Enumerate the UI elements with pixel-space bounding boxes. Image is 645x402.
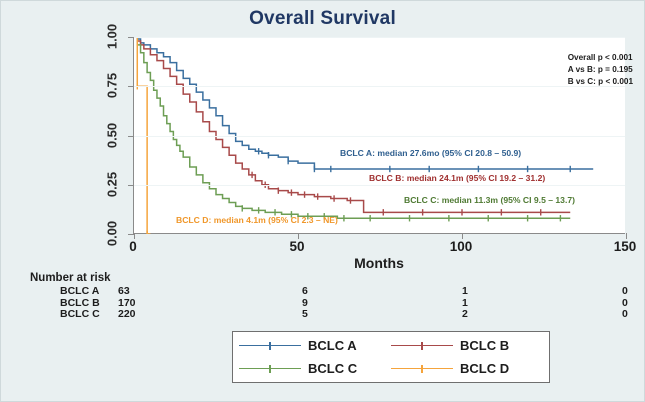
y-axis-tick-label: 1.00 (92, 29, 132, 45)
legend-item-bclc-a[interactable]: BCLC A (239, 338, 391, 353)
x-axis-tick-label: 150 (614, 239, 637, 254)
risk-row-value: 5 (302, 309, 308, 321)
legend-swatch-icon (391, 340, 453, 352)
x-axis-tick-label: 0 (129, 239, 137, 254)
y-axis-tick (128, 185, 134, 186)
annotation-bclc-a: BCLC A: median 27.6mo (95% CI 20.8 – 50.… (340, 148, 521, 158)
p-a-vs-b: A vs B: p = 0.195 (568, 64, 633, 76)
page-title: Overall Survival (0, 8, 645, 30)
risk-row-value: 63 (118, 286, 130, 298)
legend-swatch-icon (391, 363, 453, 375)
annotation-bclc-d: BCLC D: median 4.1m (95% CI 2.3 – NE) (176, 215, 338, 225)
legend-item-bclc-c[interactable]: BCLC C (239, 361, 391, 376)
p-b-vs-c: B vs C: p < 0.001 (568, 76, 633, 88)
risk-table-heading: Number at risk (30, 272, 630, 284)
y-axis-tick (128, 37, 134, 38)
risk-row-value: 2 (462, 309, 468, 321)
legend-label: BCLC C (308, 361, 357, 376)
legend-item-bclc-b[interactable]: BCLC B (391, 338, 543, 353)
risk-row-label: BCLC C (60, 309, 100, 321)
risk-row-value: 0 (622, 309, 628, 321)
p-overall: Overall p < 0.001 (568, 52, 633, 64)
y-axis-tick-label: 0.00 (92, 226, 132, 242)
legend-swatch-icon (239, 363, 301, 375)
gridline (134, 86, 625, 87)
km-curve-bclc-b (134, 37, 570, 212)
x-axis-tick-label: 50 (289, 239, 304, 254)
annotation-bclc-c: BCLC C: median 11.3m (95% CI 9.5 – 13.7) (404, 195, 575, 205)
p-value-box: Overall p < 0.001 A vs B: p = 0.195 B vs… (568, 52, 633, 88)
legend-item-bclc-d[interactable]: BCLC D (391, 361, 543, 376)
legend-label: BCLC A (308, 338, 357, 353)
annotation-bclc-b: BCLC B: median 24.1m (95% CI 19.2 – 31.2… (369, 173, 545, 183)
risk-row-value: 1 (462, 286, 468, 298)
risk-table-row: BCLC A63610 (30, 286, 630, 298)
gridline (134, 37, 625, 38)
risk-row-value: 0 (622, 286, 628, 298)
y-axis-tick-label: 0.50 (92, 128, 132, 144)
gridline (134, 185, 625, 186)
y-axis-tick (128, 136, 134, 137)
legend-label: BCLC B (460, 338, 509, 353)
number-at-risk-table: Number at risk BCLC A63610BCLC B170910BC… (30, 272, 630, 321)
risk-table-row: BCLC C220520 (30, 309, 630, 321)
gridline (134, 136, 625, 137)
risk-row-value: 220 (118, 309, 136, 321)
chart-legend: BCLC ABCLC BBCLC CBCLC D (232, 331, 550, 383)
x-axis-title: Months (133, 255, 625, 271)
km-curve-bclc-c (134, 37, 570, 218)
y-axis-tick (128, 86, 134, 87)
risk-row-value: 6 (302, 286, 308, 298)
y-axis-tick-label: 0.75 (92, 78, 132, 94)
legend-swatch-icon (239, 340, 301, 352)
y-axis-tick-label: 0.25 (92, 177, 132, 193)
legend-label: BCLC D (460, 361, 509, 376)
x-axis-tick-label: 100 (450, 239, 473, 254)
risk-row-label: BCLC A (60, 286, 99, 298)
